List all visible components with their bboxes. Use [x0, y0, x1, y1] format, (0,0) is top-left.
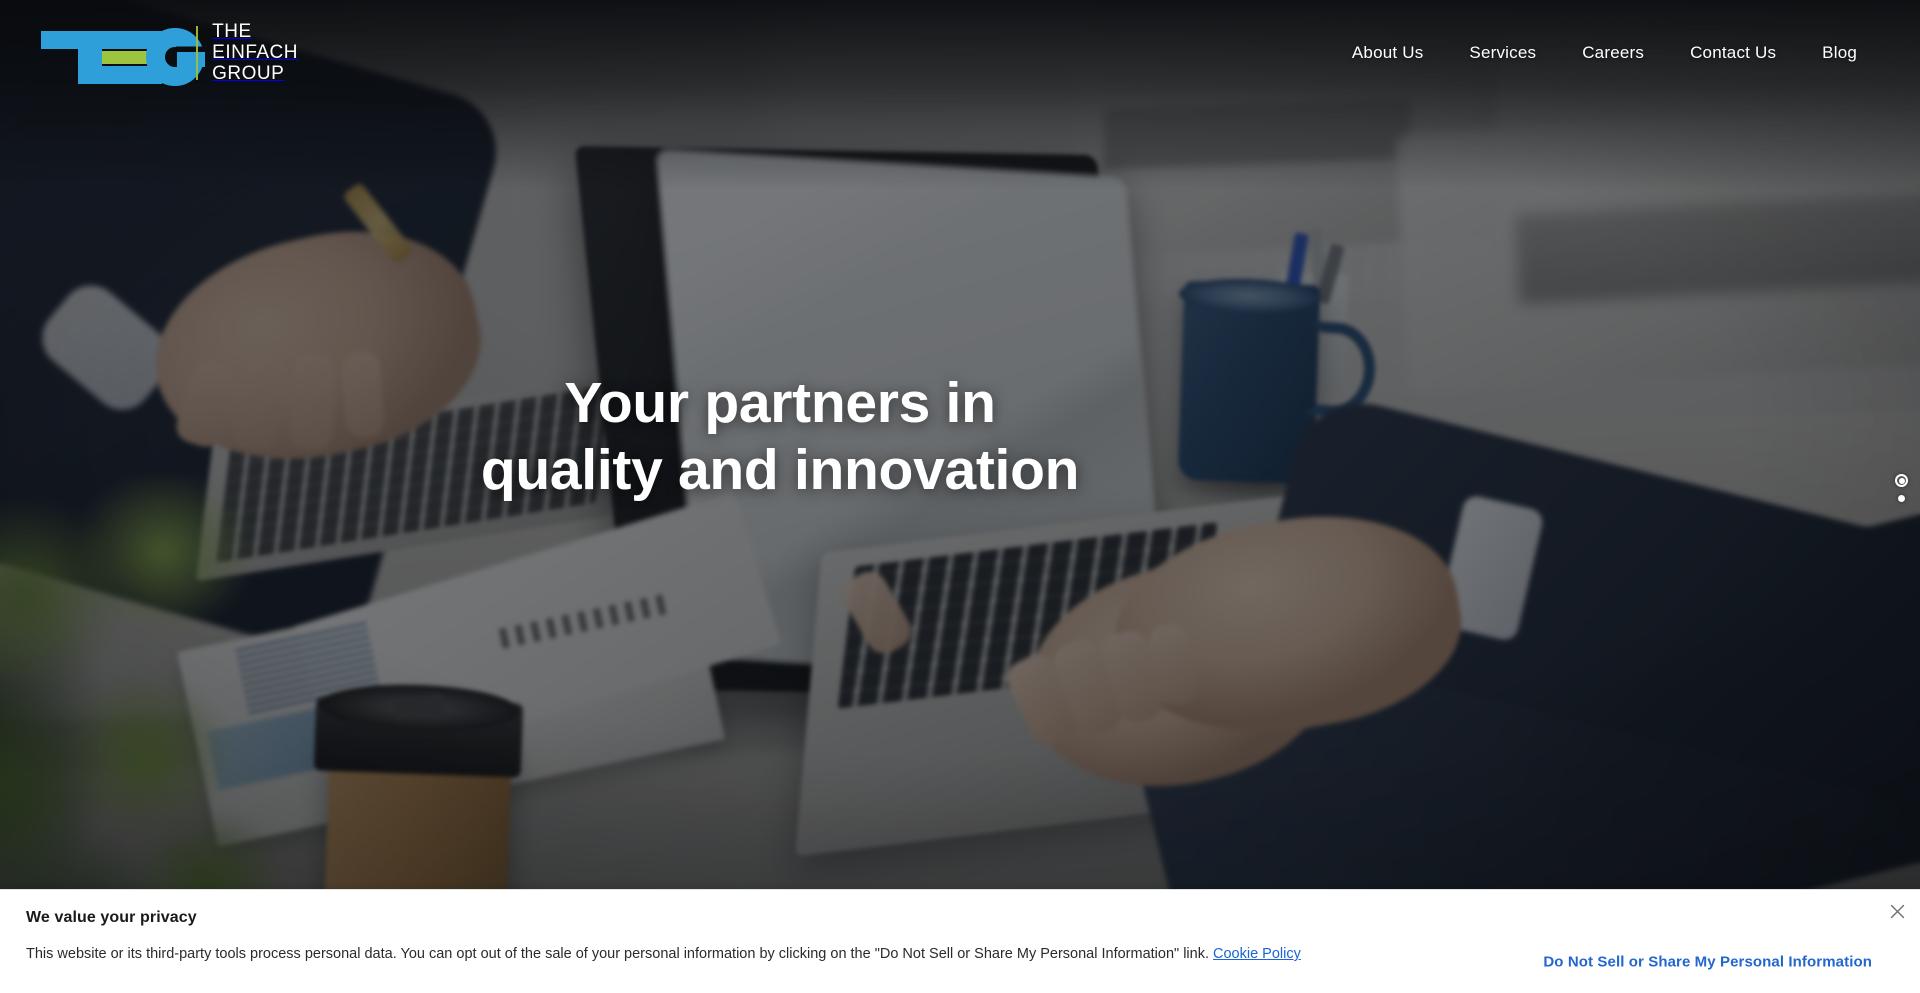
logo-word-line-3: GROUP — [212, 64, 298, 84]
slider-pagination — [1895, 474, 1908, 502]
nav-item-contact-us[interactable]: Contact Us — [1667, 34, 1799, 71]
primary-navigation: About Us Services Careers Contact Us Blo… — [1329, 0, 1880, 104]
slider-dot-2[interactable] — [1898, 495, 1905, 502]
site-header: THE EINFACH GROUP About Us Services Care… — [0, 0, 1920, 104]
nav-item-services[interactable]: Services — [1446, 34, 1559, 71]
hero-slider: THE EINFACH GROUP About Us Services Care… — [0, 0, 1920, 993]
cookie-policy-link[interactable]: Cookie Policy — [1213, 946, 1301, 962]
logo-word-line-2: EINFACH — [212, 43, 298, 63]
teg-logo-mark — [36, 22, 188, 84]
logo-letter-t-stem — [78, 31, 102, 84]
site-logo[interactable]: THE EINFACH GROUP — [36, 22, 298, 84]
logo-wordmark: THE EINFACH GROUP — [212, 22, 298, 84]
logo-letter-g-bar — [177, 52, 205, 67]
cookie-banner-body-text: This website or its third-party tools pr… — [26, 946, 1209, 962]
logo-word-line-1: THE — [212, 22, 298, 42]
nav-item-about-us[interactable]: About Us — [1329, 34, 1447, 71]
nav-item-blog[interactable]: Blog — [1799, 34, 1880, 71]
logo-divider — [196, 26, 198, 80]
nav-item-careers[interactable]: Careers — [1559, 34, 1667, 71]
logo-letter-e-middle-green — [102, 51, 152, 64]
close-icon[interactable] — [1884, 898, 1910, 924]
slider-dot-1[interactable] — [1895, 474, 1908, 487]
hero-background-photo — [0, 0, 1920, 993]
do-not-sell-link[interactable]: Do Not Sell or Share My Personal Informa… — [1543, 954, 1872, 971]
cookie-banner-title: We value your privacy — [26, 909, 197, 927]
cookie-banner-body: This website or its third-party tools pr… — [26, 944, 1301, 964]
cookie-consent-banner: We value your privacy This website or it… — [0, 889, 1920, 993]
